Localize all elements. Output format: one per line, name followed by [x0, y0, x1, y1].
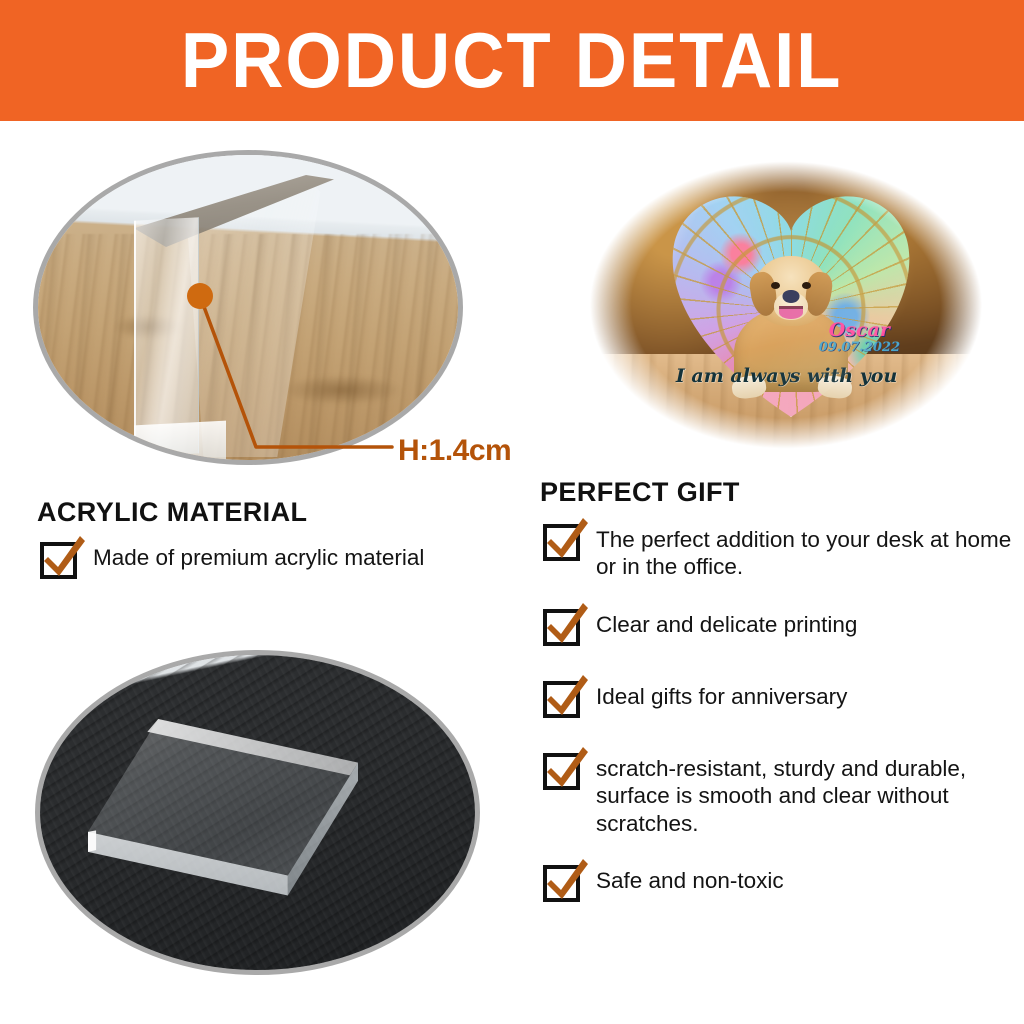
- feature-list-perfect-gift: The perfect addition to your desk at hom…: [543, 522, 1013, 935]
- wood-knot: [282, 375, 402, 405]
- feature-text: Made of premium acrylic material: [93, 540, 424, 571]
- feature-text: scratch-resistant, sturdy and durable, s…: [596, 751, 1013, 837]
- product-photo-acrylic-edge: [38, 155, 458, 460]
- heart-plaque: Oscar 09.07.2022 I am always with you: [666, 189, 916, 421]
- checkmark-icon: [543, 609, 580, 646]
- product-photo-heart-plaque: Oscar 09.07.2022 I am always with you: [588, 160, 984, 450]
- checkmark-icon: [543, 524, 580, 561]
- feature-item: Made of premium acrylic material: [40, 540, 520, 579]
- section-heading-acrylic-material: ACRYLIC MATERIAL: [37, 497, 307, 528]
- feature-text: The perfect addition to your desk at hom…: [596, 522, 1013, 581]
- product-photo-acrylic-flat: [40, 655, 475, 970]
- feature-list-acrylic-material: Made of premium acrylic material: [40, 540, 520, 605]
- feature-item: scratch-resistant, sturdy and durable, s…: [543, 751, 1013, 837]
- feature-text: Clear and delicate printing: [596, 607, 857, 638]
- page-title: PRODUCT DETAIL: [181, 21, 842, 99]
- feature-text: Safe and non-toxic: [596, 863, 784, 894]
- feature-text: Ideal gifts for anniversary: [596, 679, 847, 710]
- feature-item: Ideal gifts for anniversary: [543, 679, 1013, 718]
- feature-item: The perfect addition to your desk at hom…: [543, 522, 1013, 581]
- acrylic-slab-front-face: [134, 217, 199, 456]
- acrylic-slab-base: [134, 421, 226, 460]
- dimension-label-height: H:1.4cm: [398, 434, 511, 468]
- feature-item: Clear and delicate printing: [543, 607, 1013, 646]
- checkmark-icon: [543, 865, 580, 902]
- checkmark-icon: [543, 753, 580, 790]
- acrylic-block-flat: [88, 719, 358, 901]
- checkmark-icon: [40, 542, 77, 579]
- header-banner: PRODUCT DETAIL: [0, 0, 1024, 121]
- section-heading-perfect-gift: PERFECT GIFT: [540, 477, 740, 508]
- feature-item: Safe and non-toxic: [543, 863, 1013, 902]
- checkmark-icon: [543, 681, 580, 718]
